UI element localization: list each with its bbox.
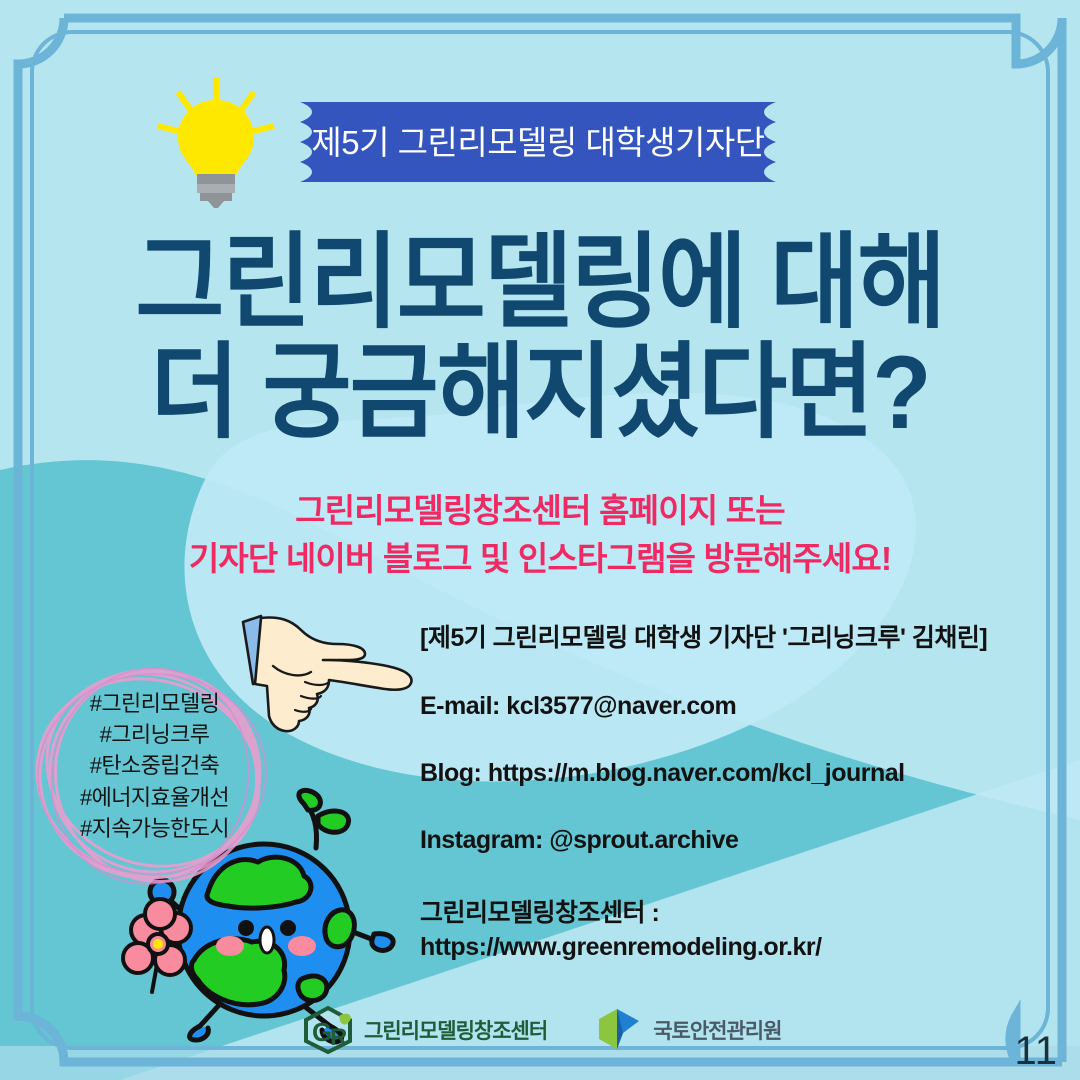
subtitle-line-1: 그린리모델링창조센터 홈페이지 또는 [0,487,1080,535]
gr-mark-icon: G R [300,1005,356,1055]
subtitle-line-2: 기자단 네이버 블로그 및 인스타그램을 방문해주세요! [0,535,1080,583]
instagram-line[interactable]: Instagram: @sprout.archive [420,826,1040,855]
center-url[interactable]: https://www.greenremodeling.or.kr/ [420,933,1040,962]
kalis-logo-label: 국토안전관리원 [653,1015,781,1045]
hashtag-list: #그린리모델링 #그리닝크루 #탄소중립건축 #에너지효율개선 #지속가능한도시 [52,688,257,844]
gr-logo: G R 그린리모델링창조센터 [300,1005,547,1055]
series-banner: 제5기 그린리모델링 대학생기자단 [288,96,788,184]
center-label: 그린리모델링창조센터 : [420,893,1040,929]
promo-card: 제5기 그린리모델링 대학생기자단 그린리모델링에 대해 더 궁금해지셨다면? … [0,0,1080,1080]
hashtag-item: #탄소중립건축 [52,750,257,781]
svg-text:R: R [330,1024,347,1051]
subtitle: 그린리모델링창조센터 홈페이지 또는 기자단 네이버 블로그 및 인스타그램을 … [0,487,1080,583]
reporter-byline: [제5기 그린리모델링 대학생 기자단 '그리닝크루' 김채린] [420,618,1040,654]
footer-logos: G R 그린리모델링창조센터 국토안전관리원 [300,1000,800,1060]
kalis-logo: 국토안전관리원 [593,1005,781,1055]
email-line[interactable]: E-mail: kcl3577@naver.com [420,692,1040,721]
blog-line[interactable]: Blog: https://m.blog.naver.com/kcl_journ… [420,759,1040,788]
title-line-1: 그린리모델링에 대해 [38,228,1042,338]
contact-block: [제5기 그린리모델링 대학생 기자단 '그리닝크루' 김채린] E-mail:… [420,618,1040,962]
page-number: 11 [1014,1029,1058,1074]
kalis-mark-icon [593,1005,645,1055]
series-banner-label: 제5기 그린리모델링 대학생기자단 [288,96,788,184]
page-title: 그린리모델링에 대해 더 궁금해지셨다면? [0,228,1080,448]
hashtag-item: #지속가능한도시 [52,813,257,844]
gr-logo-label: 그린리모델링창조센터 [364,1015,547,1045]
title-line-2: 더 궁금해지셨다면? [38,338,1042,448]
hashtag-item: #에너지효율개선 [52,782,257,813]
lightbulb-icon [148,72,284,208]
hashtag-item: #그리닝크루 [52,719,257,750]
hashtag-item: #그린리모델링 [52,688,257,719]
